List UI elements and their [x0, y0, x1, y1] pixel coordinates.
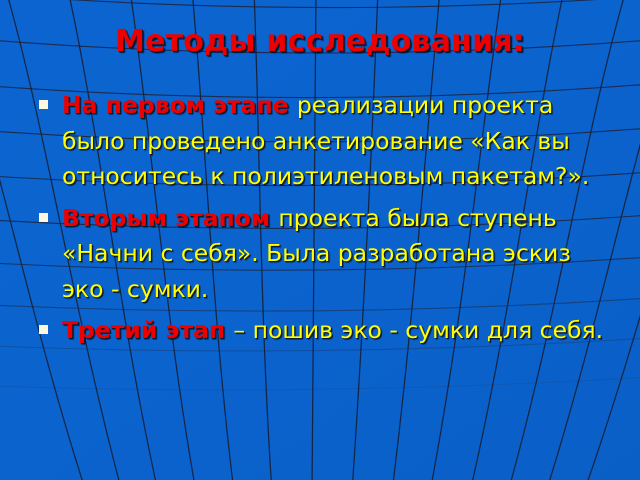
bullet-list: На первом этапе реализации проекта было …: [34, 88, 614, 355]
list-item-emphasis: Третий этап: [62, 316, 233, 344]
list-item-text: Вторым этапом проекта была ступень «Начн…: [62, 204, 571, 303]
list-item: На первом этапе реализации проекта было …: [34, 88, 614, 195]
list-item-text: Третий этап – пошив эко - сумки для себя…: [62, 316, 603, 344]
list-item-emphasis: Вторым этапом: [62, 204, 278, 232]
presentation-slide: Методы исследования: На первом этапе реа…: [0, 0, 640, 480]
square-bullet-icon: [39, 213, 48, 222]
list-item-body: – пошив эко - сумки для себя.: [233, 316, 603, 344]
list-item: Третий этап – пошив эко - сумки для себя…: [34, 313, 614, 349]
page-title: Методы исследования:: [0, 24, 640, 59]
square-bullet-icon: [39, 325, 48, 334]
list-item-emphasis: На первом этапе: [62, 91, 297, 119]
slide-content: Методы исследования: На первом этапе реа…: [0, 0, 640, 480]
list-item-text: На первом этапе реализации проекта было …: [62, 91, 589, 190]
list-item: Вторым этапом проекта была ступень «Начн…: [34, 201, 614, 308]
square-bullet-icon: [39, 100, 48, 109]
